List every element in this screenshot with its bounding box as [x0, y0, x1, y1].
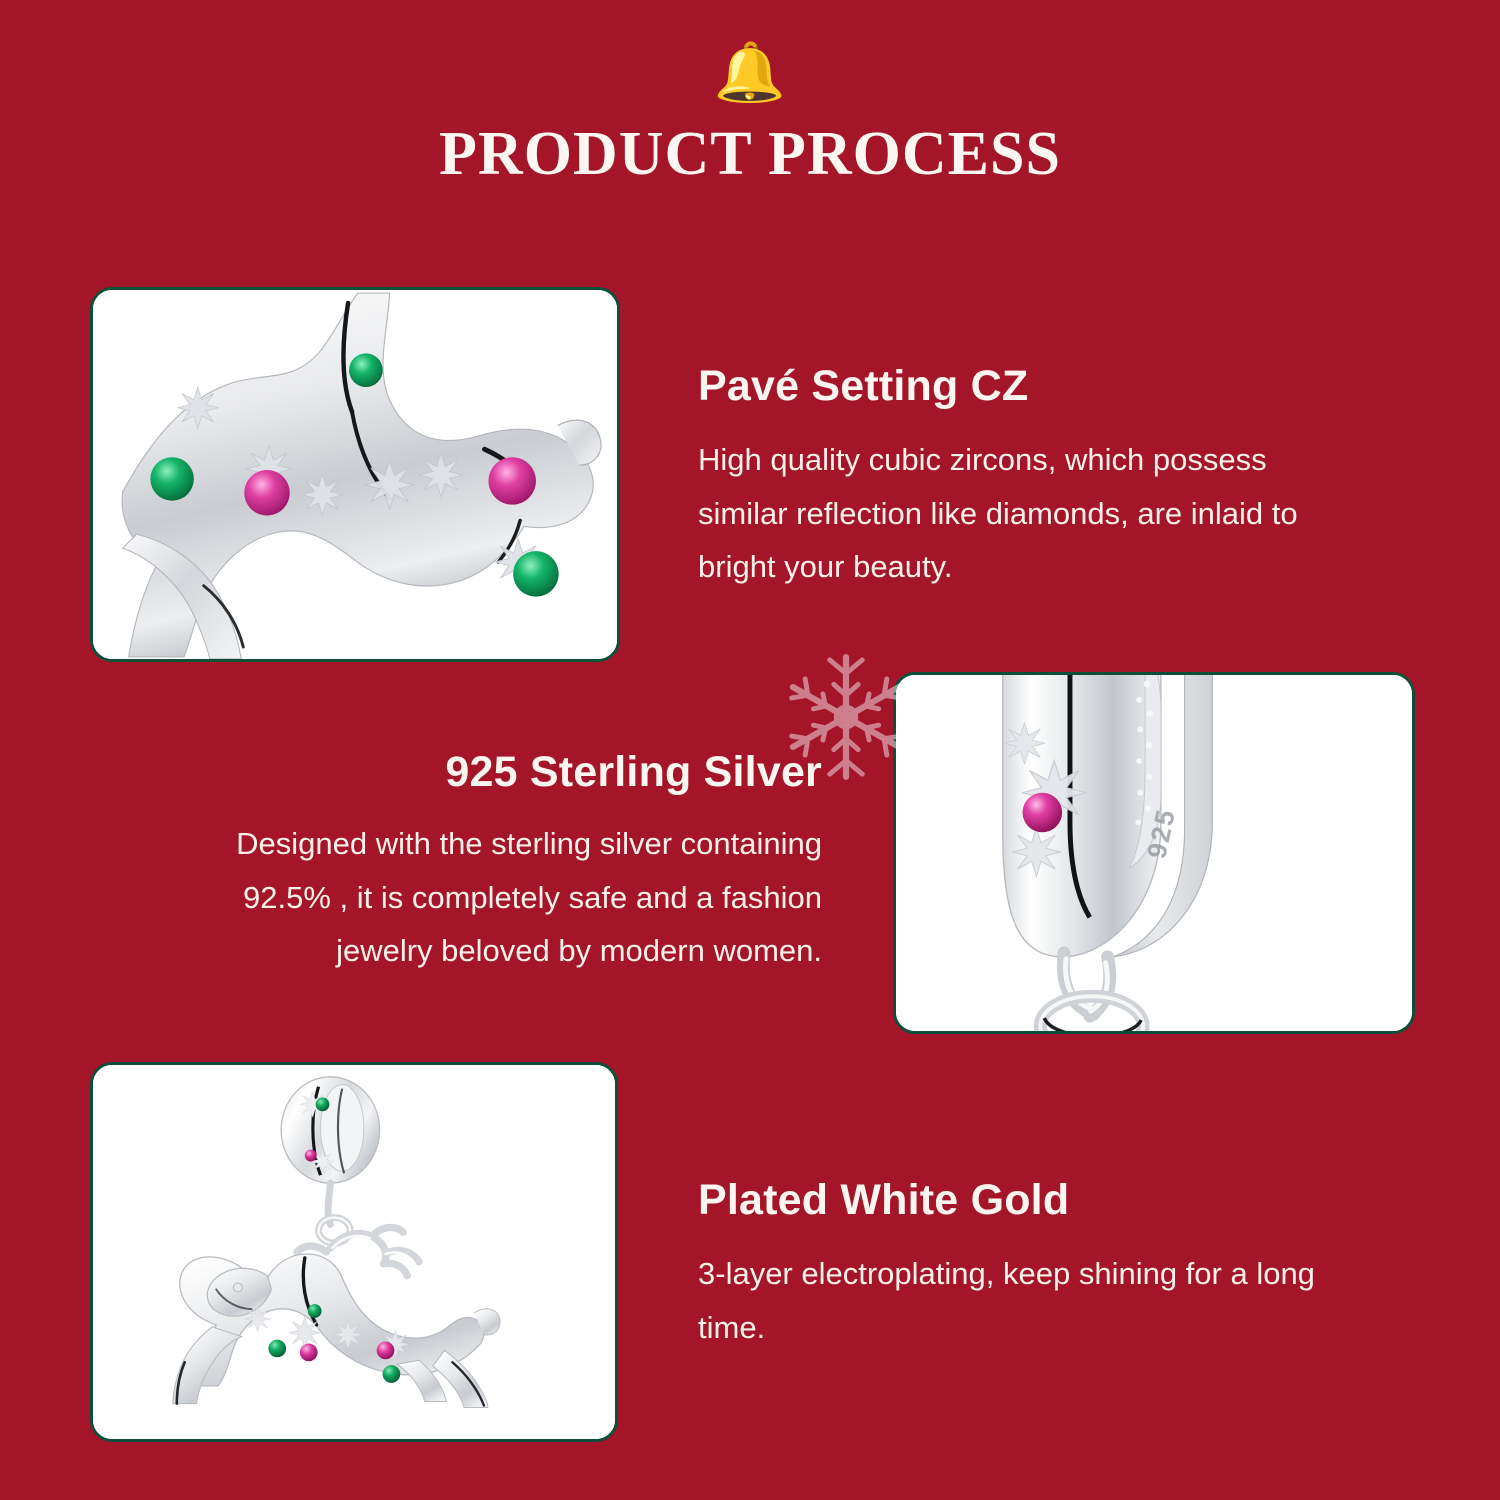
jingle-bells-icon: 🔔: [0, 0, 1500, 106]
product-process-infographic: 🔔 PRODUCT PROCESS: [0, 0, 1500, 1500]
header: 🔔 PRODUCT PROCESS: [0, 0, 1500, 188]
product-image-card-pave-setting: [90, 287, 620, 662]
feature-text-sterling-silver: 925 Sterling Silver Designed with the st…: [150, 748, 822, 977]
feature-body-plated-white-gold: 3-layer electroplating, keep shining for…: [698, 1247, 1318, 1354]
feature-text-pave-setting: Pavé Setting CZ High quality cubic zirco…: [698, 362, 1358, 593]
page-title: PRODUCT PROCESS: [0, 120, 1500, 188]
cz-stone-green: [349, 353, 383, 387]
feature-body-sterling-silver: Designed with the sterling silver contai…: [150, 817, 822, 977]
feature-text-plated-white-gold: Plated White Gold 3-layer electroplating…: [698, 1176, 1318, 1354]
reindeer-body-closeup-photo: [93, 290, 617, 659]
cz-stone-pink: [1023, 793, 1063, 833]
product-image-card-plated-white-gold: [90, 1062, 618, 1442]
charm-bail-hallmark-photo: 925: [896, 675, 1412, 1031]
feature-title-pave-setting: Pavé Setting CZ: [698, 362, 1358, 411]
feature-body-pave-setting: High quality cubic zircons, which posses…: [698, 433, 1358, 593]
product-image-card-sterling-silver: 925: [893, 672, 1415, 1034]
feature-title-sterling-silver: 925 Sterling Silver: [150, 748, 822, 797]
feature-title-plated-white-gold: Plated White Gold: [698, 1176, 1318, 1225]
full-reindeer-dangle-charm-photo: [93, 1065, 615, 1439]
